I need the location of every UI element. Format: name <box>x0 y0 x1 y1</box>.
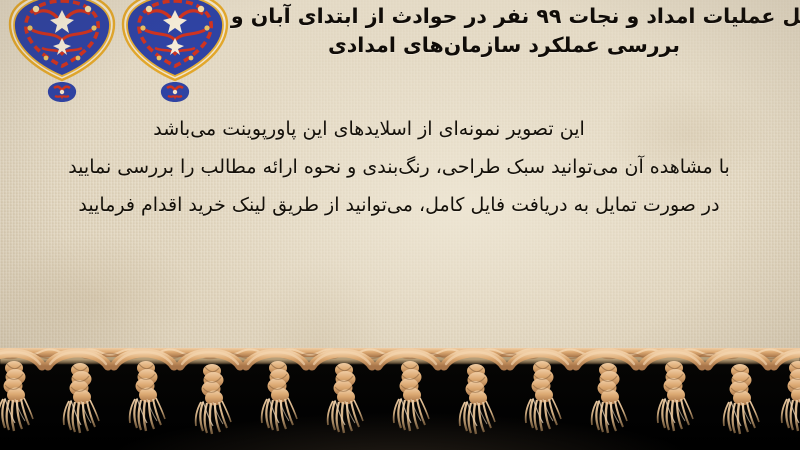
carpet-top-edge <box>0 348 800 364</box>
slide-body: این تصویر نمونه‌ای از اسلایدهای این پاور… <box>0 110 800 224</box>
title-line-1: تحلیل عملیات امداد و نجات ۹۹ نفر در حواد… <box>0 2 800 31</box>
fringe-tassels <box>0 361 800 434</box>
slide-canvas: تحلیل عملیات امداد و نجات ۹۹ نفر در حواد… <box>0 0 800 450</box>
body-line-2: با مشاهده آن می‌توانید سبک طراحی، رنگ‌بن… <box>0 148 800 186</box>
body-line-3: در صورت تمایل به دریافت فایل کامل، می‌تو… <box>0 186 800 224</box>
bottom-black-band <box>0 354 800 450</box>
body-line-1: این تصویر نمونه‌ای از اسلایدهای این پاور… <box>0 110 800 148</box>
title-line-2: بررسی عملکرد سازمان‌های امدادی <box>0 31 680 60</box>
slide-title: تحلیل عملیات امداد و نجات ۹۹ نفر در حواد… <box>0 2 800 60</box>
